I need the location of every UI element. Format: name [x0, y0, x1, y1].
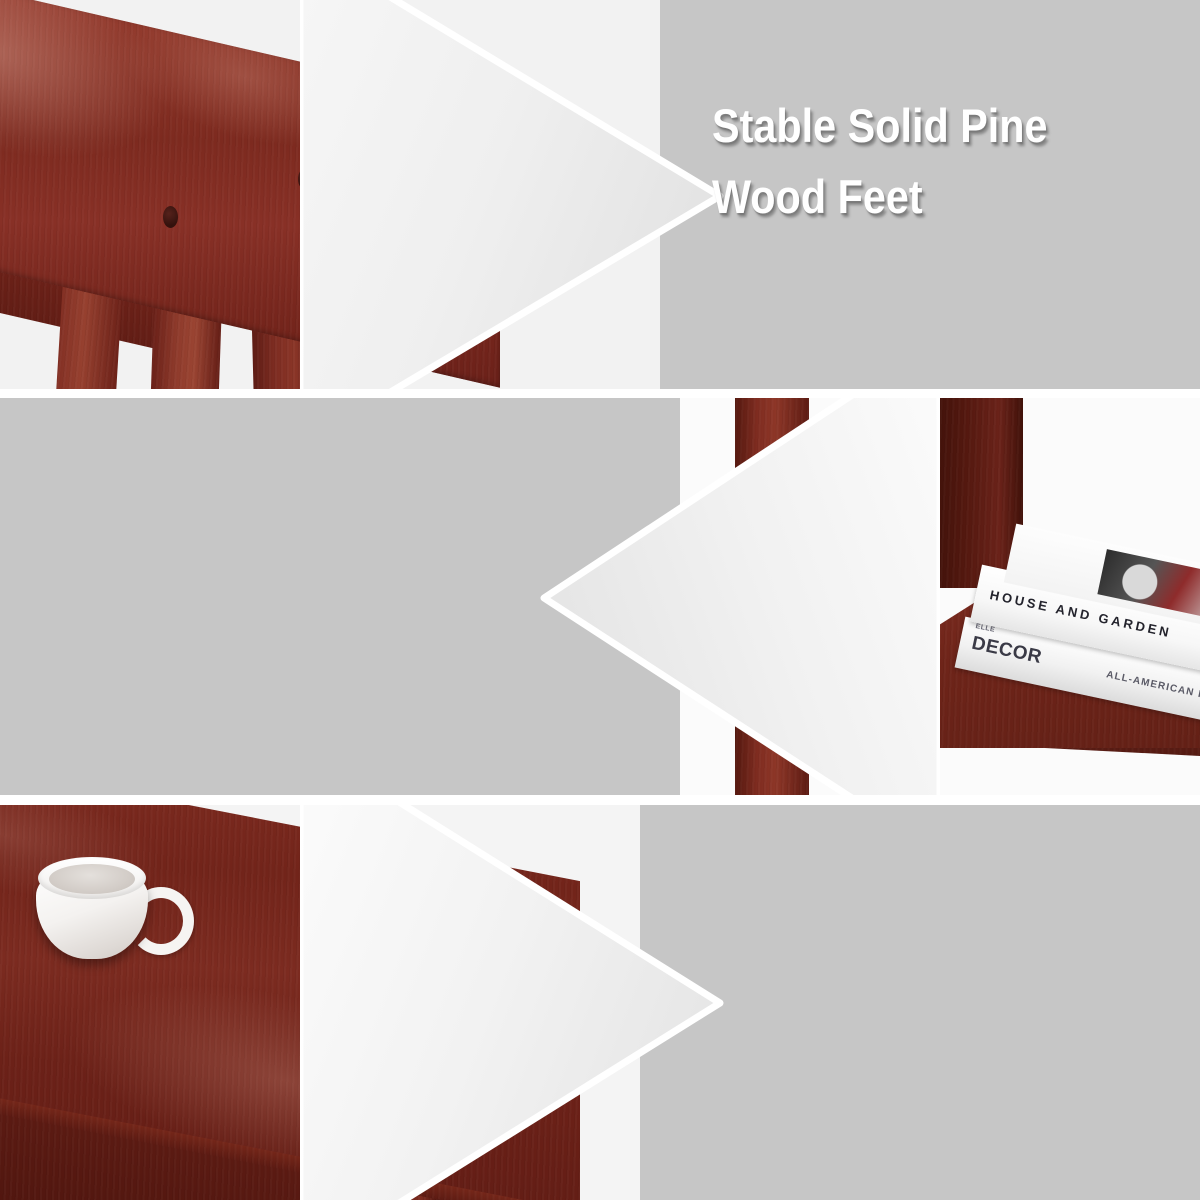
caption-line: Stable Solid Pine	[712, 90, 1048, 161]
product-photo-table-leg	[0, 0, 660, 389]
shelf-leg-front	[735, 398, 809, 795]
feature-panel-2: ELLE DECOR ALL-AMERICAN FLAIR HOUSE AND …	[0, 398, 1200, 795]
panel-divider	[0, 389, 1200, 398]
feature-panel-3: Spacious natural wooden pattern desktop	[0, 805, 1200, 1200]
product-photo-desktop	[0, 805, 640, 1200]
screw-plug-icon	[298, 168, 313, 190]
feature-panel-1: Stable Solid Pine Wood Feet	[0, 0, 1200, 389]
panel-1-caption: Stable Solid Pine Wood Feet	[712, 90, 1093, 233]
feature-collage: Stable Solid Pine Wood Feet ELLE DECOR A…	[0, 0, 1200, 1200]
panel-2-photo: ELLE DECOR ALL-AMERICAN FLAIR HOUSE AND …	[680, 398, 1200, 795]
book-title: DECOR	[970, 633, 1044, 669]
panel-divider	[0, 795, 1200, 805]
panel-1-photo	[0, 0, 660, 389]
screw-plug-icon	[163, 206, 178, 228]
product-photo-bottom-shelf: ELLE DECOR ALL-AMERICAN FLAIR HOUSE AND …	[680, 398, 1200, 795]
cup-interior	[49, 864, 135, 894]
caption-line: Wood Feet	[712, 161, 1048, 232]
book-tagline: ALL-AMERICAN FLAIR	[1105, 669, 1200, 707]
coffee-cup	[36, 853, 172, 965]
panel-3-photo	[0, 805, 640, 1200]
